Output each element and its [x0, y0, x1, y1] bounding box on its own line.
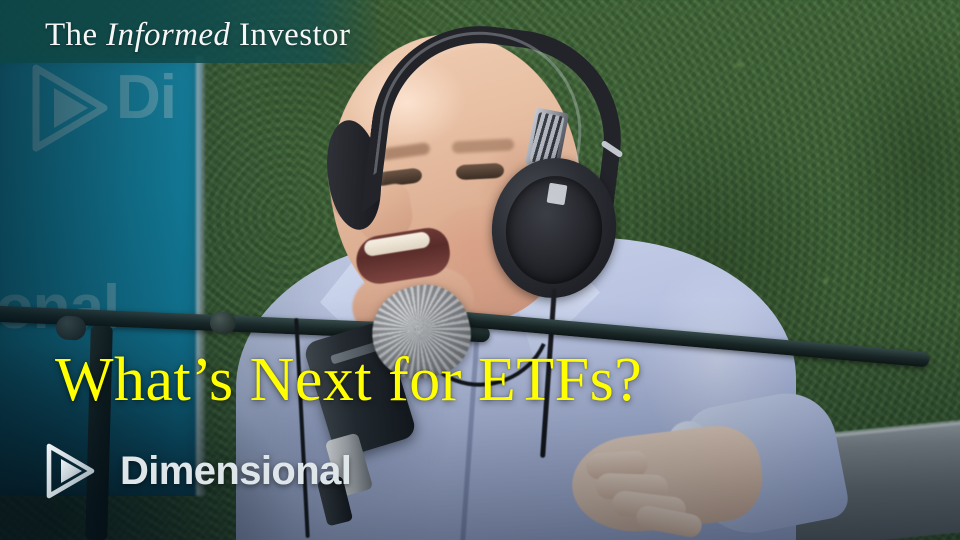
- episode-title: What’s Next for ETFs?: [55, 344, 642, 416]
- brand-wordmark: Dimensional: [120, 449, 351, 493]
- series-title-suffix: Investor: [230, 17, 350, 53]
- dimensional-triangle-play-logo-icon: [44, 442, 106, 500]
- video-thumbnail-frame: Di sional The Inform: [0, 0, 960, 540]
- series-title: The Informed Investor: [45, 15, 350, 55]
- headphone-brand-badge: [547, 183, 568, 206]
- series-title-prefix: The: [45, 17, 106, 53]
- brand-logo: Dimensional: [44, 442, 351, 500]
- series-title-emphasis: Informed: [106, 17, 230, 53]
